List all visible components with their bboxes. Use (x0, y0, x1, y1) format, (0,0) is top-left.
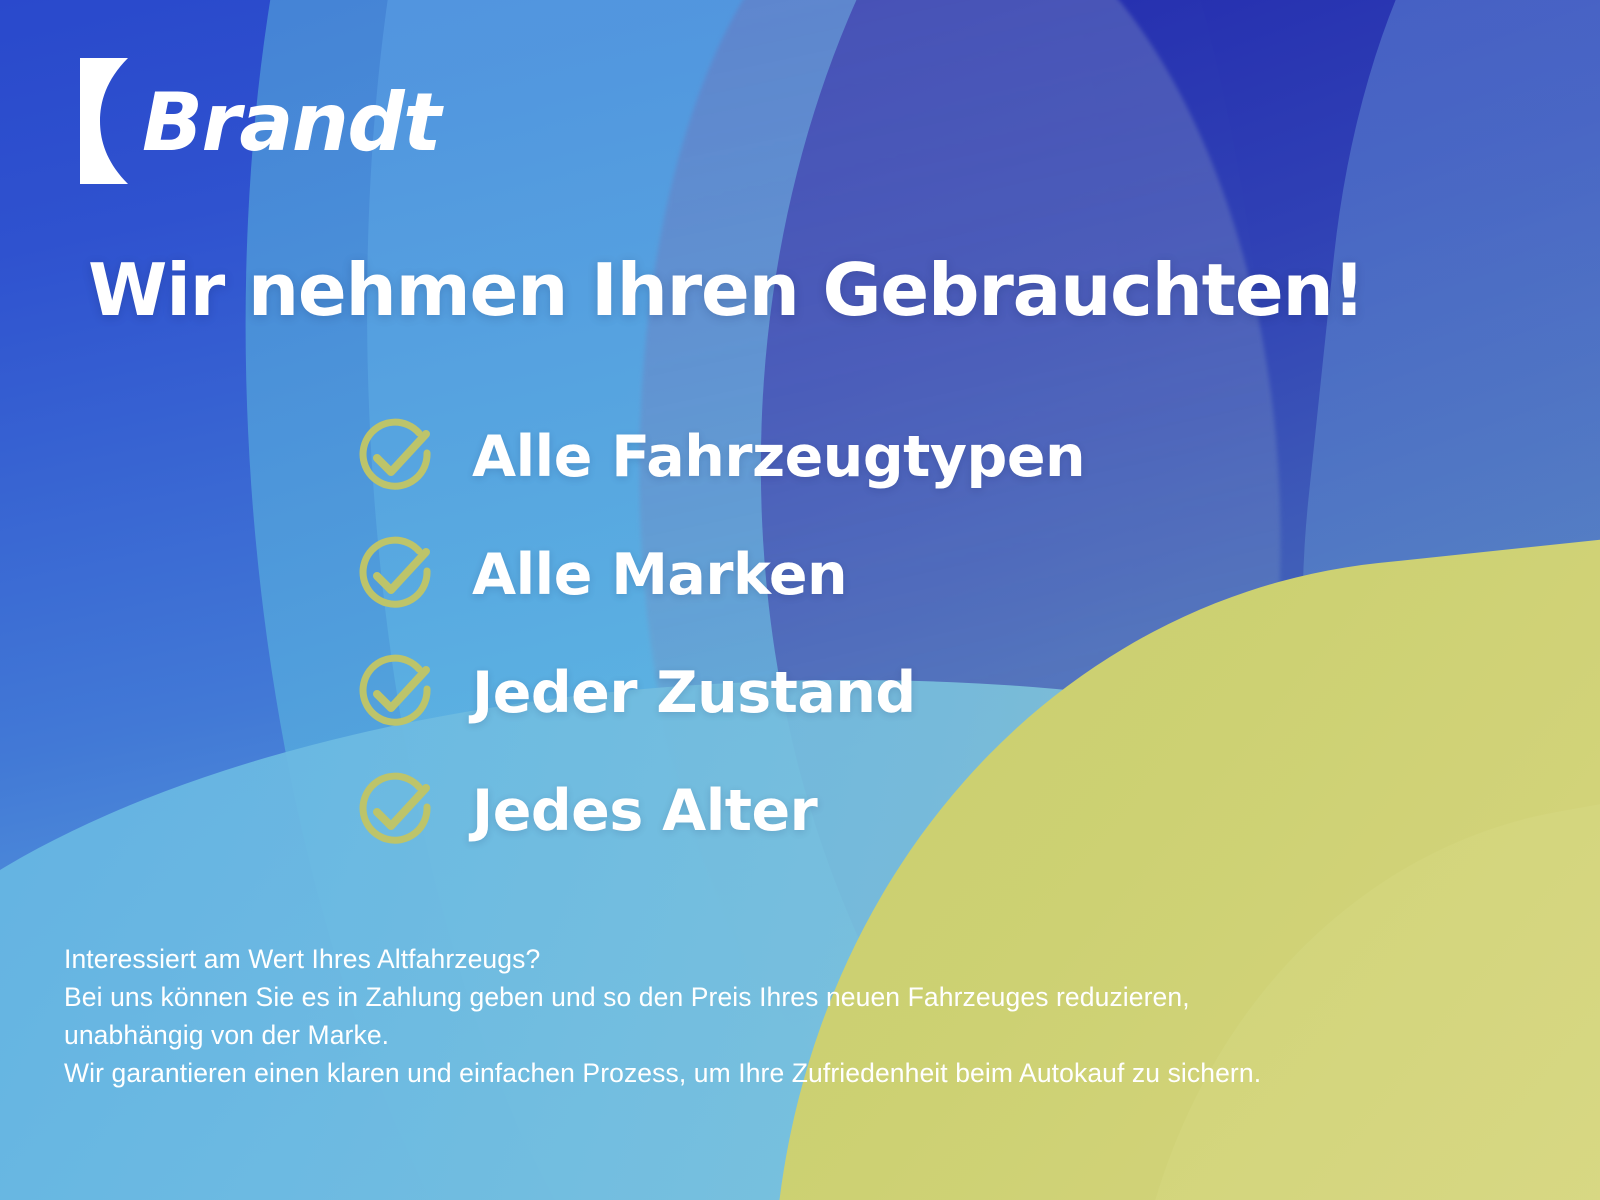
check-circle-icon (352, 532, 438, 618)
list-item: Alle Fahrzeugtypen (352, 398, 1085, 516)
check-circle-icon (352, 650, 438, 736)
page-title: Wir nehmen Ihren Gebrauchten! (88, 248, 1364, 332)
brand-logo: Brandt (72, 56, 440, 186)
promo-poster: Brandt Wir nehmen Ihren Gebrauchten! All… (0, 0, 1600, 1200)
footer-line-3: unabhängig von der Marke. (64, 1016, 1524, 1054)
list-item-label: Jeder Zustand (472, 660, 916, 726)
list-item: Jedes Alter (352, 752, 1085, 870)
benefit-list: Alle Fahrzeugtypen Alle Marken (352, 398, 1085, 870)
footer-line-1: Interessiert am Wert Ihres Altfahrzeugs? (64, 940, 1524, 978)
list-item-label: Alle Fahrzeugtypen (472, 424, 1085, 490)
brand-wordmark: Brandt (142, 83, 440, 163)
footer-paragraph: Interessiert am Wert Ihres Altfahrzeugs?… (64, 940, 1524, 1092)
check-circle-icon (352, 414, 438, 500)
bracket-arc-mark-icon (72, 56, 146, 186)
background-strip-right (1258, 0, 1600, 1019)
list-item-label: Alle Marken (472, 542, 847, 608)
list-item: Alle Marken (352, 516, 1085, 634)
footer-line-2: Bei uns können Sie es in Zahlung geben u… (64, 978, 1524, 1016)
list-item-label: Jedes Alter (472, 778, 817, 844)
check-circle-icon (352, 768, 438, 854)
footer-line-4: Wir garantieren einen klaren und einfach… (64, 1054, 1524, 1092)
list-item: Jeder Zustand (352, 634, 1085, 752)
